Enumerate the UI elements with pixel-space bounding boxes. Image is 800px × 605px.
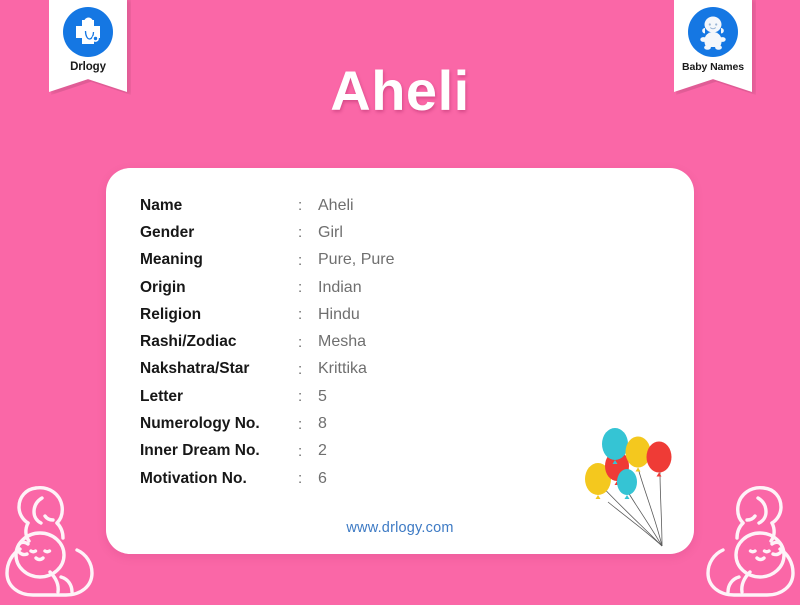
table-row: Origin:Indian <box>140 274 394 301</box>
row-separator: : <box>298 356 318 383</box>
row-label: Meaning <box>140 247 298 274</box>
row-label: Motivation No. <box>140 465 298 492</box>
row-value: Krittika <box>318 356 394 383</box>
table-row: Nakshatra/Star:Krittika <box>140 356 394 383</box>
row-label: Name <box>140 192 298 219</box>
table-row: Letter:5 <box>140 383 394 410</box>
row-value: 6 <box>318 465 394 492</box>
name-details-table: Name:AheliGender:GirlMeaning:Pure, PureO… <box>140 192 394 492</box>
row-value: Mesha <box>318 328 394 355</box>
row-separator: : <box>298 328 318 355</box>
table-row: Religion:Hindu <box>140 301 394 328</box>
mother-and-baby-icon <box>694 472 800 600</box>
row-separator: : <box>298 219 318 246</box>
row-label: Letter <box>140 383 298 410</box>
mother-and-baby-icon <box>0 472 106 600</box>
row-label: Inner Dream No. <box>140 438 298 465</box>
row-separator: : <box>298 383 318 410</box>
name-details-card: Name:AheliGender:GirlMeaning:Pure, PureO… <box>106 168 694 554</box>
row-value: Indian <box>318 274 394 301</box>
table-row: Numerology No.:8 <box>140 410 394 437</box>
row-value: 8 <box>318 410 394 437</box>
row-value: 5 <box>318 383 394 410</box>
row-separator: : <box>298 247 318 274</box>
row-label: Origin <box>140 274 298 301</box>
table-row: Name:Aheli <box>140 192 394 219</box>
row-label: Religion <box>140 301 298 328</box>
row-separator: : <box>298 438 318 465</box>
row-value: Hindu <box>318 301 394 328</box>
row-label: Numerology No. <box>140 410 298 437</box>
row-separator: : <box>298 301 318 328</box>
table-row: Inner Dream No.:2 <box>140 438 394 465</box>
row-separator: : <box>298 410 318 437</box>
row-separator: : <box>298 465 318 492</box>
row-separator: : <box>298 192 318 219</box>
drlogy-medical-cross-icon <box>63 7 113 57</box>
row-label: Nakshatra/Star <box>140 356 298 383</box>
table-row: Rashi/Zodiac:Mesha <box>140 328 394 355</box>
row-label: Gender <box>140 219 298 246</box>
row-value: Aheli <box>318 192 394 219</box>
site-url-link[interactable]: www.drlogy.com <box>106 520 694 536</box>
row-value: Girl <box>318 219 394 246</box>
table-row: Gender:Girl <box>140 219 394 246</box>
row-separator: : <box>298 274 318 301</box>
table-row: Motivation No.:6 <box>140 465 394 492</box>
row-label: Rashi/Zodiac <box>140 328 298 355</box>
table-row: Meaning:Pure, Pure <box>140 247 394 274</box>
baby-icon <box>688 7 738 57</box>
page-title: Aheli <box>0 62 800 121</box>
row-value: Pure, Pure <box>318 247 394 274</box>
row-value: 2 <box>318 438 394 465</box>
